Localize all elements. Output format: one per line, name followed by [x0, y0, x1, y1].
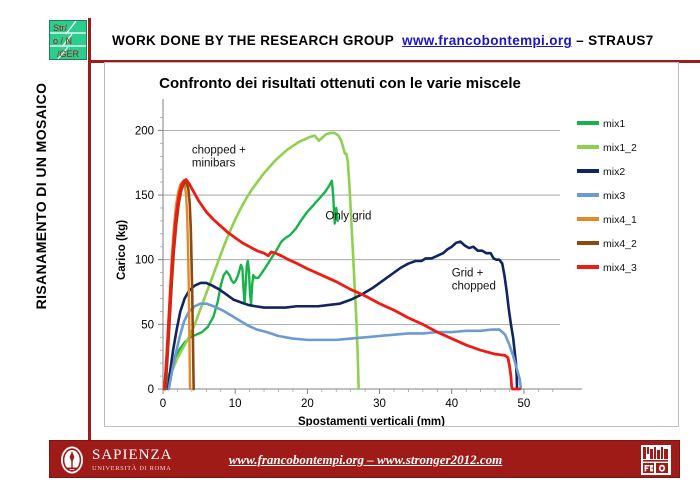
x-tick-label: 10: [229, 398, 242, 410]
x-tick-label: 0: [160, 398, 166, 410]
chart-annotation: Only grid: [325, 211, 371, 223]
footer-links: www.francobontempi.org – www.stronger201…: [50, 441, 681, 479]
chart-annotation: minibars: [192, 158, 236, 170]
fbo-logo-icon: [641, 445, 671, 475]
footer-website-link[interactable]: www.francobontempi.org – www.stronger201…: [229, 452, 503, 468]
x-tick-label: 20: [301, 398, 314, 410]
header-website-link[interactable]: www.francobontempi.org: [402, 33, 572, 48]
series-line-mix1_2: [166, 133, 359, 389]
x-tick-label: 40: [445, 398, 458, 410]
legend-label-mix3[interactable]: mix3: [603, 190, 625, 202]
legend-label-mix2[interactable]: mix2: [603, 166, 625, 178]
logo-line-2: o / N: [53, 36, 72, 46]
stronger-logo: Str/ o / N /GER: [49, 20, 87, 60]
header-title-suffix: – STRAUS7: [576, 33, 653, 48]
y-axis-label: Carico (kg): [116, 220, 128, 280]
chart-annotation: chopped: [452, 280, 496, 292]
y-tick-label: 100: [135, 255, 154, 267]
x-tick-label: 50: [518, 398, 531, 410]
chart-annotation: Grid +: [452, 268, 484, 280]
x-axis-label: Spostamenti verticali (mm): [298, 416, 445, 426]
fbo-logo: [641, 445, 671, 475]
section-vertical-title: RISANAMENTO DI UN MOSAICO: [33, 81, 65, 311]
y-tick-label: 0: [148, 384, 154, 396]
chart-annotation: chopped +: [192, 145, 246, 157]
header-title-prefix: WORK DONE BY THE RESEARCH GROUP: [112, 33, 394, 48]
stronger-logo-mark: Str/ o / N /GER: [50, 21, 86, 59]
y-tick-label: 150: [135, 190, 154, 202]
chart-container: Confronto dei risultati ottenuti con le …: [104, 62, 679, 427]
left-vertical-divider: [88, 18, 91, 442]
page-title: WORK DONE BY THE RESEARCH GROUP www.fran…: [112, 33, 654, 48]
x-tick-label: 30: [373, 398, 386, 410]
series-line-mix2: [168, 242, 517, 389]
slide-header: Str/ o / N /GER WORK DONE BY THE RESEARC…: [0, 0, 700, 62]
legend-label-mix4_3[interactable]: mix4_3: [603, 262, 637, 274]
legend-label-mix1[interactable]: mix1: [603, 118, 625, 130]
legend-label-mix1_2[interactable]: mix1_2: [603, 142, 637, 154]
logo-line-3: /GER: [57, 49, 80, 59]
chart-plot: 05010015020001020304050Spostamenti verti…: [105, 63, 678, 426]
legend-label-mix4_2[interactable]: mix4_2: [603, 238, 637, 250]
y-tick-label: 50: [141, 319, 154, 331]
y-tick-label: 200: [135, 125, 154, 137]
logo-line-1: Str/: [53, 23, 68, 33]
legend-label-mix4_1[interactable]: mix4_1: [603, 214, 637, 226]
slide-footer: SAPIENZA UNIVERSITÀ DI ROMA www.francobo…: [49, 440, 680, 478]
